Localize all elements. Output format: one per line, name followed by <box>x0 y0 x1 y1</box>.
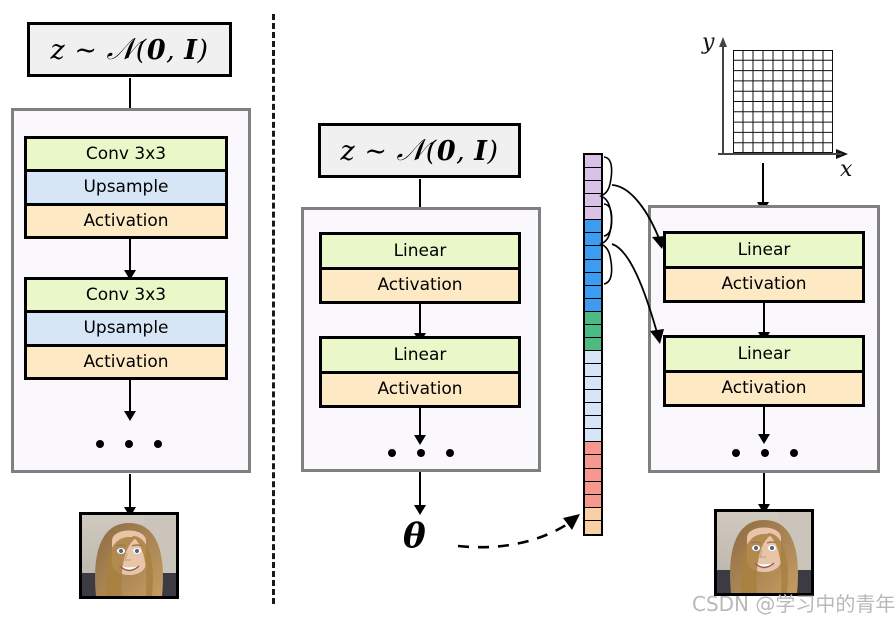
parameter-cell <box>585 338 601 351</box>
face-illustration-left <box>82 515 176 596</box>
latent-box-middle: z ~ N(0, I) z ∼ 𝒩(0, I) <box>318 123 521 178</box>
vertical-divider <box>272 14 275 604</box>
layer-upsample-1: Upsample <box>27 169 225 202</box>
conv-block-1-left: Conv 3x3 Upsample Activation <box>24 136 228 239</box>
parameter-vector-strip <box>583 153 603 536</box>
latent-formula-middle-rendered: z ∼ 𝒩(0, I) <box>341 133 499 168</box>
parameter-cell <box>585 233 601 246</box>
layer-linear-1-right: Linear <box>666 234 862 266</box>
layer-upsample-2: Upsample <box>27 310 225 343</box>
parameter-cell <box>585 482 601 495</box>
ellipsis-right <box>732 449 798 457</box>
parameter-cell <box>585 194 601 207</box>
layer-activation-2: Activation <box>27 344 225 377</box>
parameter-cell <box>585 455 601 468</box>
parameter-cell <box>585 508 601 521</box>
x-axis <box>718 153 842 155</box>
linear-block-2-right: Linear Activation <box>663 335 865 407</box>
parameter-cell <box>585 181 601 194</box>
linear-block-1-middle: Linear Activation <box>319 232 521 304</box>
parameter-cell <box>585 390 601 403</box>
parameter-cell <box>585 403 601 416</box>
parameter-cell <box>585 312 601 325</box>
parameter-cell <box>585 299 601 312</box>
layer-activation-1-right: Activation <box>666 266 862 301</box>
layer-conv-2: Conv 3x3 <box>27 280 225 310</box>
parameter-cell <box>585 429 601 442</box>
watermark-text: CSDN @学习中的青年 <box>692 588 895 617</box>
linear-block-2-middle: Linear Activation <box>319 336 521 408</box>
generated-face-image-right <box>714 509 814 596</box>
x-axis-label: x <box>840 157 852 182</box>
layer-linear-2-right: Linear <box>666 338 862 370</box>
layer-linear-2-middle: Linear <box>322 339 518 371</box>
parameter-cell <box>585 273 601 286</box>
layer-activation-2-right: Activation <box>666 370 862 405</box>
theta-symbol: θ <box>403 516 426 556</box>
parameter-cell <box>585 351 601 364</box>
parameter-cell <box>585 207 601 220</box>
layer-conv-1: Conv 3x3 <box>27 139 225 169</box>
layer-activation-1: Activation <box>27 203 225 236</box>
parameter-cell <box>585 442 601 455</box>
latent-formula-left-rendered: z ∼ 𝒩(0, I) <box>51 32 209 67</box>
parameter-cell <box>585 325 601 338</box>
parameter-cell <box>585 155 601 168</box>
coordinate-grid-plot: y x <box>700 35 880 175</box>
diagram-canvas: z ~ N(0, I) z ∼ 𝒩(0, I) Conv 3x3 Upsampl… <box>0 0 896 621</box>
latent-box-left: z ~ N(0, I) z ∼ 𝒩(0, I) <box>27 22 232 77</box>
parameter-cell <box>585 495 601 508</box>
parameter-cell <box>585 286 601 299</box>
theta-to-strip-dashed-arrow <box>458 514 580 547</box>
y-axis-label: y <box>702 30 714 55</box>
layer-activation-1-middle: Activation <box>322 267 518 302</box>
conv-block-2-left: Conv 3x3 Upsample Activation <box>24 277 228 380</box>
layer-activation-2-middle: Activation <box>322 371 518 406</box>
parameter-cell <box>585 246 601 259</box>
generated-face-image-left <box>79 512 179 599</box>
linear-block-1-right: Linear Activation <box>663 231 865 303</box>
parameter-cell <box>585 469 601 482</box>
parameter-cell <box>585 521 601 534</box>
pixel-grid-lines <box>733 50 833 153</box>
y-axis <box>722 43 724 155</box>
ellipsis-middle <box>388 449 454 457</box>
parameter-cell <box>585 377 601 390</box>
parameter-cell <box>585 416 601 429</box>
parameter-cell <box>585 220 601 233</box>
parameter-cell <box>585 260 601 273</box>
face-illustration-right <box>717 512 811 593</box>
layer-linear-1-middle: Linear <box>322 235 518 267</box>
pixel-grid <box>733 50 833 153</box>
parameter-cell <box>585 364 601 377</box>
parameter-cell <box>585 168 601 181</box>
ellipsis-left <box>96 440 162 448</box>
